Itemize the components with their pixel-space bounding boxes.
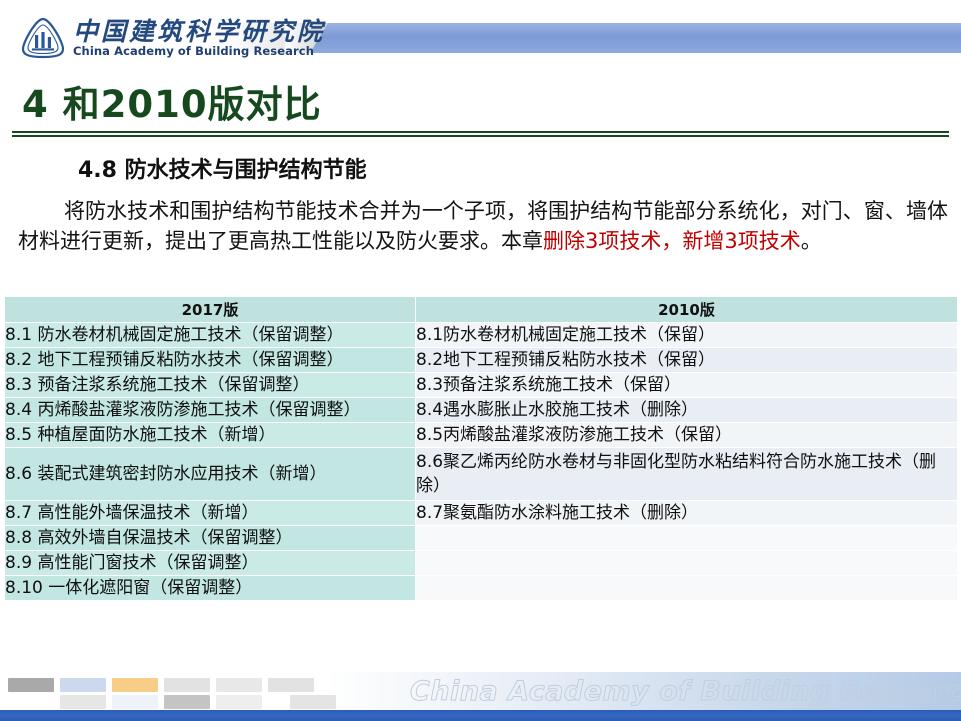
cell-2010-6: 8.6聚乙烯丙纶防水卷材与非固化型防水粘结料符合防水施工技术（删除）	[416, 448, 958, 501]
cell-2010-2: 8.2地下工程预铺反粘防水技术（保留）	[416, 348, 958, 373]
page-title: 4 和2010版对比	[22, 74, 322, 128]
table-header-row: 2017版 2010版	[5, 297, 958, 323]
cell-2017-8: 8.8 高效外墙自保温技术（保留调整）	[5, 526, 416, 551]
table-row: 8.7 高性能外墙保温技术（新增） 8.7聚氨酯防水涂料施工技术（删除）	[5, 501, 958, 526]
table-row: 8.10 一体化遮阳窗（保留调整）	[5, 576, 958, 601]
section-paragraph: 将防水技术和围护结构节能技术合并为一个子项，将围护结构节能部分系统化，对门、窗、…	[18, 196, 948, 256]
paragraph-text-part2: 。	[801, 229, 822, 253]
table-row: 8.5 种植屋面防水施工技术（新增） 8.5丙烯酸盐灌浆液防渗施工技术（保留）	[5, 423, 958, 448]
footer-watermark: China Academy of Building Research	[410, 676, 955, 707]
version-comparison-table: 2017版 2010版 8.1 防水卷材机械固定施工技术（保留调整） 8.1防水…	[4, 296, 958, 601]
paragraph-text-emphasis: 删除3项技术，新增3项技术	[543, 229, 801, 253]
brand-name-en: China Academy of Building Research	[73, 46, 325, 58]
cell-2017-10: 8.10 一体化遮阳窗（保留调整）	[5, 576, 416, 601]
cell-2010-10	[416, 576, 958, 601]
footer-chip	[290, 695, 336, 709]
banner-blue-bar	[310, 23, 961, 53]
footer-chip	[112, 695, 158, 709]
slide-root: 中国建筑科学研究院 China Academy of Building Rese…	[0, 0, 961, 721]
table-row: 8.2 地下工程预铺反粘防水技术（保留调整） 8.2地下工程预铺反粘防水技术（保…	[5, 348, 958, 373]
cell-2017-6: 8.6 装配式建筑密封防水应用技术（新增）	[5, 448, 416, 501]
cell-2010-7: 8.7聚氨酯防水涂料施工技术（删除）	[416, 501, 958, 526]
cell-2010-1: 8.1防水卷材机械固定施工技术（保留）	[416, 323, 958, 348]
footer-chip	[164, 695, 210, 709]
column-header-2017: 2017版	[5, 297, 416, 323]
header-banner: 中国建筑科学研究院 China Academy of Building Rese…	[0, 0, 961, 72]
table-row: 8.1 防水卷材机械固定施工技术（保留调整） 8.1防水卷材机械固定施工技术（保…	[5, 323, 958, 348]
cell-2017-2: 8.2 地下工程预铺反粘防水技术（保留调整）	[5, 348, 416, 373]
cell-2010-4: 8.4遇水膨胀止水胶施工技术（删除）	[416, 398, 958, 423]
cell-2017-4: 8.4 丙烯酸盐灌浆液防渗施工技术（保留调整）	[5, 398, 416, 423]
table-body: 8.1 防水卷材机械固定施工技术（保留调整） 8.1防水卷材机械固定施工技术（保…	[5, 323, 958, 601]
footer-chip	[216, 678, 262, 692]
cell-2017-7: 8.7 高性能外墙保温技术（新增）	[5, 501, 416, 526]
brand-logo: 中国建筑科学研究院 China Academy of Building Rese…	[20, 13, 325, 63]
table-row: 8.3 预备注浆系统施工技术（保留调整） 8.3预备注浆系统施工技术（保留）	[5, 373, 958, 398]
title-divider	[12, 131, 949, 137]
brand-name-cn: 中国建筑科学研究院	[73, 19, 325, 44]
cell-2017-3: 8.3 预备注浆系统施工技术（保留调整）	[5, 373, 416, 398]
cell-2017-9: 8.9 高性能门窗技术（保留调整）	[5, 551, 416, 576]
footer-chip	[60, 695, 106, 709]
slide-footer: China Academy of Building Research	[0, 672, 961, 721]
cell-2017-1: 8.1 防水卷材机械固定施工技术（保留调整）	[5, 323, 416, 348]
footer-chip	[8, 678, 54, 692]
cell-2010-5: 8.5丙烯酸盐灌浆液防渗施工技术（保留）	[416, 423, 958, 448]
footer-chip	[112, 678, 158, 692]
cell-2017-5: 8.5 种植屋面防水施工技术（新增）	[5, 423, 416, 448]
footer-chip	[164, 678, 210, 692]
footer-chip	[268, 678, 314, 692]
cell-2010-9	[416, 551, 958, 576]
table-row: 8.4 丙烯酸盐灌浆液防渗施工技术（保留调整） 8.4遇水膨胀止水胶施工技术（删…	[5, 398, 958, 423]
table-row: 8.6 装配式建筑密封防水应用技术（新增） 8.6聚乙烯丙纶防水卷材与非固化型防…	[5, 448, 958, 501]
table-row: 8.8 高效外墙自保温技术（保留调整）	[5, 526, 958, 551]
column-header-2010: 2010版	[416, 297, 958, 323]
cell-2010-8	[416, 526, 958, 551]
footer-chip	[216, 695, 262, 709]
cabr-triangle-logo-icon	[20, 16, 66, 60]
table-row: 8.9 高性能门窗技术（保留调整）	[5, 551, 958, 576]
section-heading: 4.8 防水技术与围护结构节能	[78, 152, 367, 184]
footer-blue-bar	[0, 710, 961, 721]
footer-chip	[60, 678, 106, 692]
cell-2010-3: 8.3预备注浆系统施工技术（保留）	[416, 373, 958, 398]
